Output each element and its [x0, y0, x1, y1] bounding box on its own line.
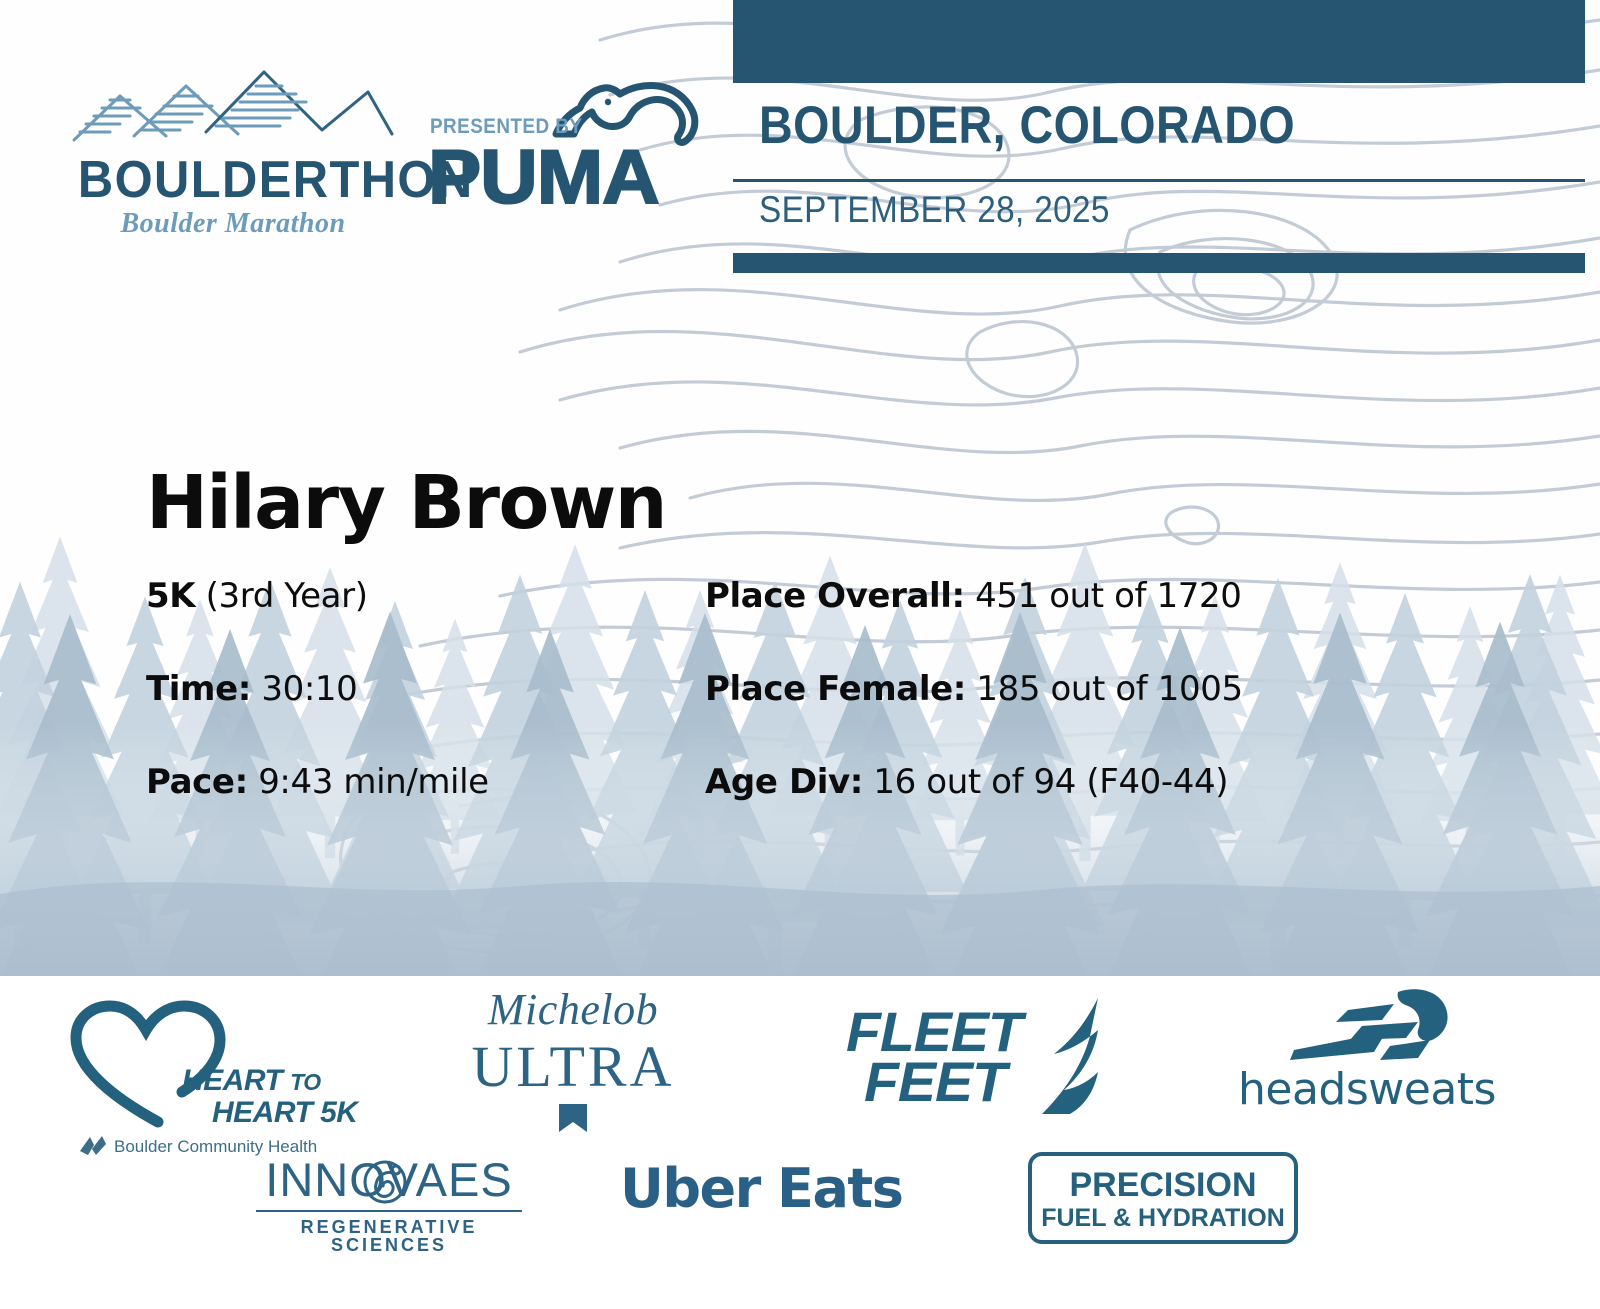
sponsor-headsweats: headsweats [1222, 986, 1512, 1116]
boulderthon-tagline: Boulder Marathon [68, 210, 398, 238]
race-results-card: BOULDERTHON Boulder Marathon PRESENTED B… [0, 0, 1600, 1309]
event-year-note: (3rd Year) [206, 576, 368, 616]
precision-line1: PRECISION [1032, 1168, 1294, 1202]
event-date: SEPTEMBER 28, 2025 [759, 191, 1110, 228]
sponsor-uber-eats: Uber Eats [620, 1162, 950, 1232]
heart-to-heart-line2: HEART 5K [212, 1098, 357, 1128]
presented-by-label: PRESENTED BY [430, 116, 582, 137]
mountain-range-icon [68, 62, 398, 157]
event-distance-line: 5K (3rd Year) [146, 579, 368, 613]
presented-by-puma-logo: PRESENTED BY PUMA [424, 84, 699, 220]
headsweats-wordmark: headsweats [1222, 1068, 1512, 1112]
time-line: Time: 30:10 [146, 672, 357, 706]
heart-to-heart-line1: HEART TO [182, 1066, 321, 1096]
sponsor-fleet-feet: FLEET FEET [842, 996, 1112, 1116]
wing-icon [1020, 996, 1112, 1114]
uber-eats-wordmark: Uber Eats [620, 1162, 902, 1216]
place-overall-label: Place Overall: [705, 576, 965, 616]
stat-row: 5K (3rd Year) Place Overall: 451 out of … [0, 579, 1600, 672]
fleet-line2: FEET [864, 1054, 1006, 1110]
time-value: 30:10 [261, 669, 357, 709]
place-female-line: Place Female: 185 out of 1005 [705, 672, 1243, 706]
age-div-label: Age Div: [705, 762, 863, 802]
place-female-label: Place Female: [705, 669, 966, 709]
boulderthon-wordmark: BOULDERTHON [78, 154, 388, 206]
pace-value: 9:43 min/mile [258, 762, 488, 802]
boulder-community-health-icon [76, 1135, 110, 1157]
ultra-wordmark: ULTRA [448, 1038, 698, 1096]
age-div-value: 16 out of 94 (F40-44) [873, 762, 1228, 802]
headsweats-speed-icon [1290, 988, 1490, 1068]
athlete-block: Hilary Brown [146, 466, 666, 541]
ribbon-icon [555, 1104, 591, 1148]
banner-bottom-bar [733, 253, 1585, 273]
stat-row: Time: 30:10 Place Female: 185 out of 100… [0, 672, 1600, 765]
michelob-script: Michelob [448, 988, 698, 1032]
place-female-value: 185 out of 1005 [976, 669, 1242, 709]
precision-line2: FUEL & HYDRATION [1032, 1206, 1294, 1231]
time-label: Time: [146, 669, 251, 709]
stat-row: Pace: 9:43 min/mile Age Div: 16 out of 9… [0, 765, 1600, 858]
sponsor-precision-fuel-hydration: PRECISION FUEL & HYDRATION [1028, 1152, 1298, 1244]
pace-label: Pace: [146, 762, 248, 802]
sponsor-michelob-ultra: Michelob ULTRA [448, 982, 698, 1142]
banner-content: BOULDER, COLORADO SEPTEMBER 28, 2025 [733, 83, 1585, 253]
athlete-name: Hilary Brown [146, 466, 666, 541]
banner-top-bar [733, 0, 1585, 83]
place-overall-line: Place Overall: 451 out of 1720 [705, 579, 1241, 613]
event-city-state: BOULDER, COLORADO [759, 99, 1295, 152]
sponsor-heart-to-heart-5k: HEART TO HEART 5K Boulder Community Heal… [62, 994, 362, 1139]
place-overall-value: 451 out of 1720 [975, 576, 1241, 616]
boulderthon-logo: BOULDERTHON Boulder Marathon [68, 62, 398, 242]
age-div-line: Age Div: 16 out of 94 (F40-44) [705, 765, 1228, 799]
innovaes-divider [256, 1210, 522, 1212]
puma-wordmark: PUMA [428, 140, 659, 216]
innovaes-subtitle: REGENERATIVE SCIENCES [244, 1218, 534, 1254]
event-distance-label: 5K [146, 576, 195, 616]
pace-line: Pace: 9:43 min/mile [146, 765, 489, 799]
sponsor-logos: HEART TO HEART 5K Boulder Community Heal… [0, 976, 1600, 1309]
event-location-banner: BOULDER, COLORADO SEPTEMBER 28, 2025 [733, 0, 1585, 273]
banner-divider [733, 179, 1585, 182]
sponsor-innovaes: INNOVAES REGENERATIVE SCIENCES [244, 1156, 534, 1246]
spiral-o-icon [362, 1158, 408, 1204]
results-stats: 5K (3rd Year) Place Overall: 451 out of … [0, 579, 1600, 858]
